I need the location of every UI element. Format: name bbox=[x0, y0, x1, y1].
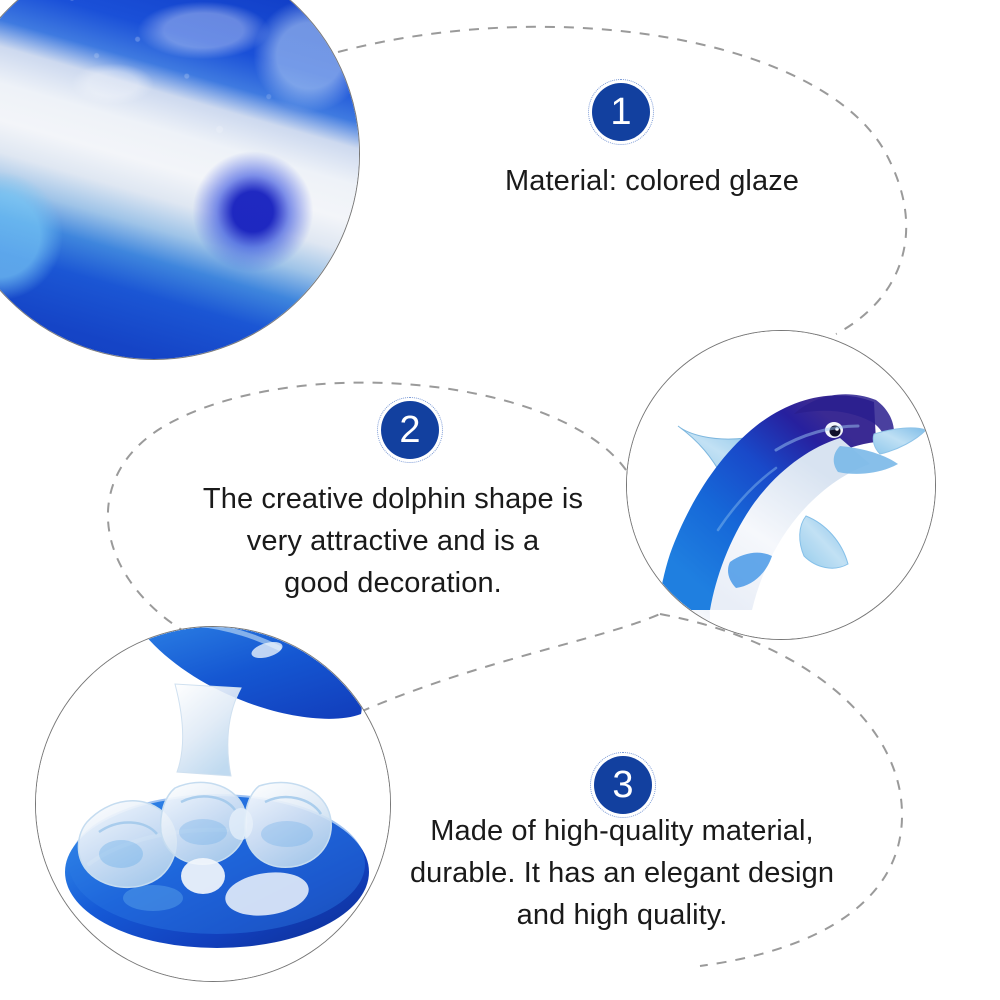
step-badge-1-number: 1 bbox=[610, 91, 631, 133]
feature-caption-1: Material: colored glaze bbox=[432, 160, 872, 202]
feature-caption-3: Made of high-quality material, durable. … bbox=[372, 810, 872, 936]
caption-2-line-3: good decoration. bbox=[158, 562, 628, 604]
connector-arc-4 bbox=[360, 614, 660, 712]
infographic-canvas: 1 2 3 Material: colored glaze The creati… bbox=[0, 0, 1000, 1000]
glass-base-photo bbox=[35, 626, 391, 982]
step-badge-2-number: 2 bbox=[399, 409, 420, 451]
photo-1-highlights bbox=[0, 0, 359, 359]
caption-1-line-1: Material: colored glaze bbox=[432, 160, 872, 202]
photo-2-image bbox=[626, 330, 936, 640]
caption-2-line-1: The creative dolphin shape is bbox=[158, 478, 628, 520]
caption-3-line-1: Made of high-quality material, bbox=[372, 810, 872, 852]
dolphin-figurine-photo bbox=[626, 330, 936, 640]
step-badge-3: 3 bbox=[594, 756, 652, 814]
caption-3-line-3: and high quality. bbox=[372, 894, 872, 936]
glass-body-macro-photo bbox=[0, 0, 360, 360]
photo-3-image bbox=[35, 626, 391, 982]
feature-caption-2: The creative dolphin shape is very attra… bbox=[158, 478, 628, 604]
step-badge-1: 1 bbox=[592, 83, 650, 141]
step-badge-2: 2 bbox=[381, 401, 439, 459]
caption-2-line-2: very attractive and is a bbox=[158, 520, 628, 562]
caption-3-line-2: durable. It has an elegant design bbox=[372, 852, 872, 894]
step-badge-3-number: 3 bbox=[612, 764, 633, 806]
